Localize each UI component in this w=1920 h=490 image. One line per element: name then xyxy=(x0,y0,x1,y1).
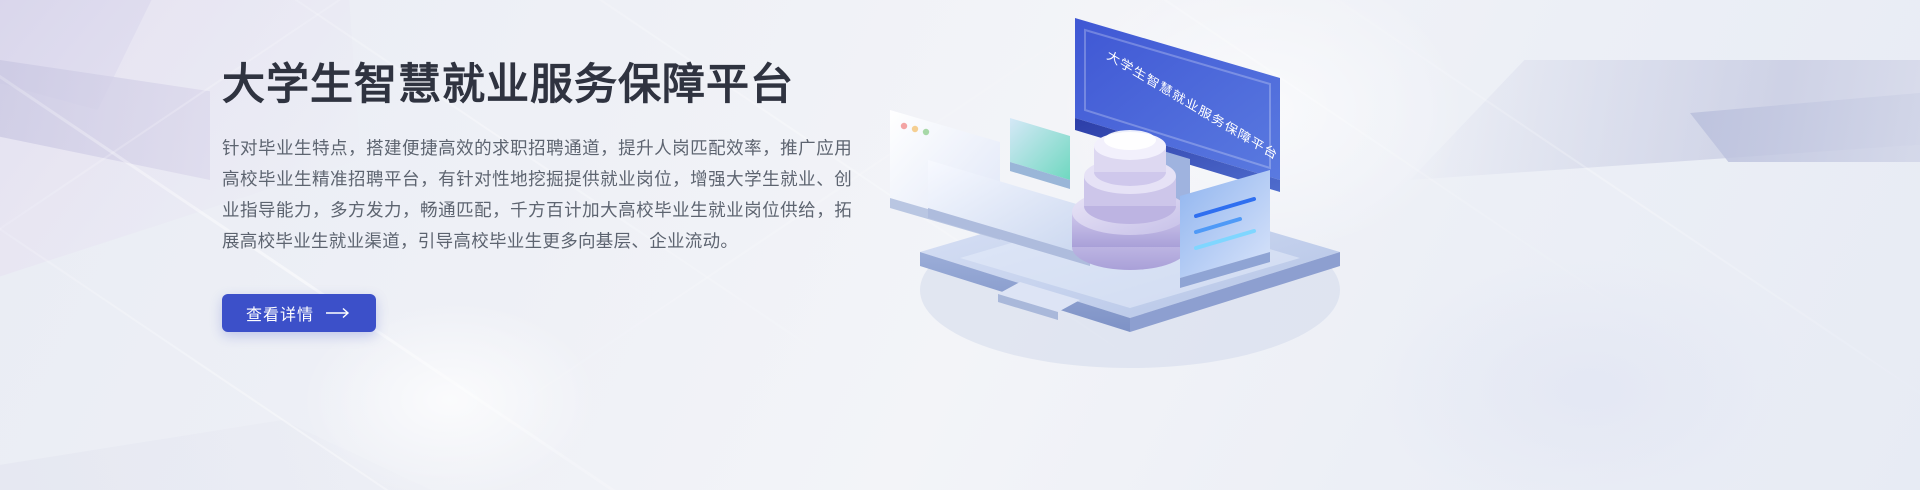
hero-description: 针对毕业生特点，搭建便捷高效的求职招聘通道，提升人岗匹配效率，推广应用高校毕业生… xyxy=(222,133,852,257)
hero-copy: 大学生智慧就业服务保障平台 针对毕业生特点，搭建便捷高效的求职招聘通道，提升人岗… xyxy=(222,62,862,332)
page-title: 大学生智慧就业服务保障平台 xyxy=(222,62,862,109)
hero-banner: 大学生智慧就业服务保障平台 针对毕业生特点，搭建便捷高效的求职招聘通道，提升人岗… xyxy=(0,0,1920,490)
background-glow-right xyxy=(1380,260,1800,490)
floating-card-green xyxy=(1010,118,1070,189)
arrow-right-icon xyxy=(326,307,352,319)
background-facet-right xyxy=(1410,60,1920,180)
background-facet-left-lower xyxy=(0,60,210,180)
background-facet-right-edge xyxy=(1690,92,1920,162)
isometric-platform-illustration: 大学生智慧就业服务保障平台 xyxy=(880,0,1440,420)
background-facet-corner xyxy=(0,0,190,110)
view-details-button[interactable]: 查看详情 xyxy=(222,294,376,332)
view-details-label: 查看详情 xyxy=(246,301,314,325)
